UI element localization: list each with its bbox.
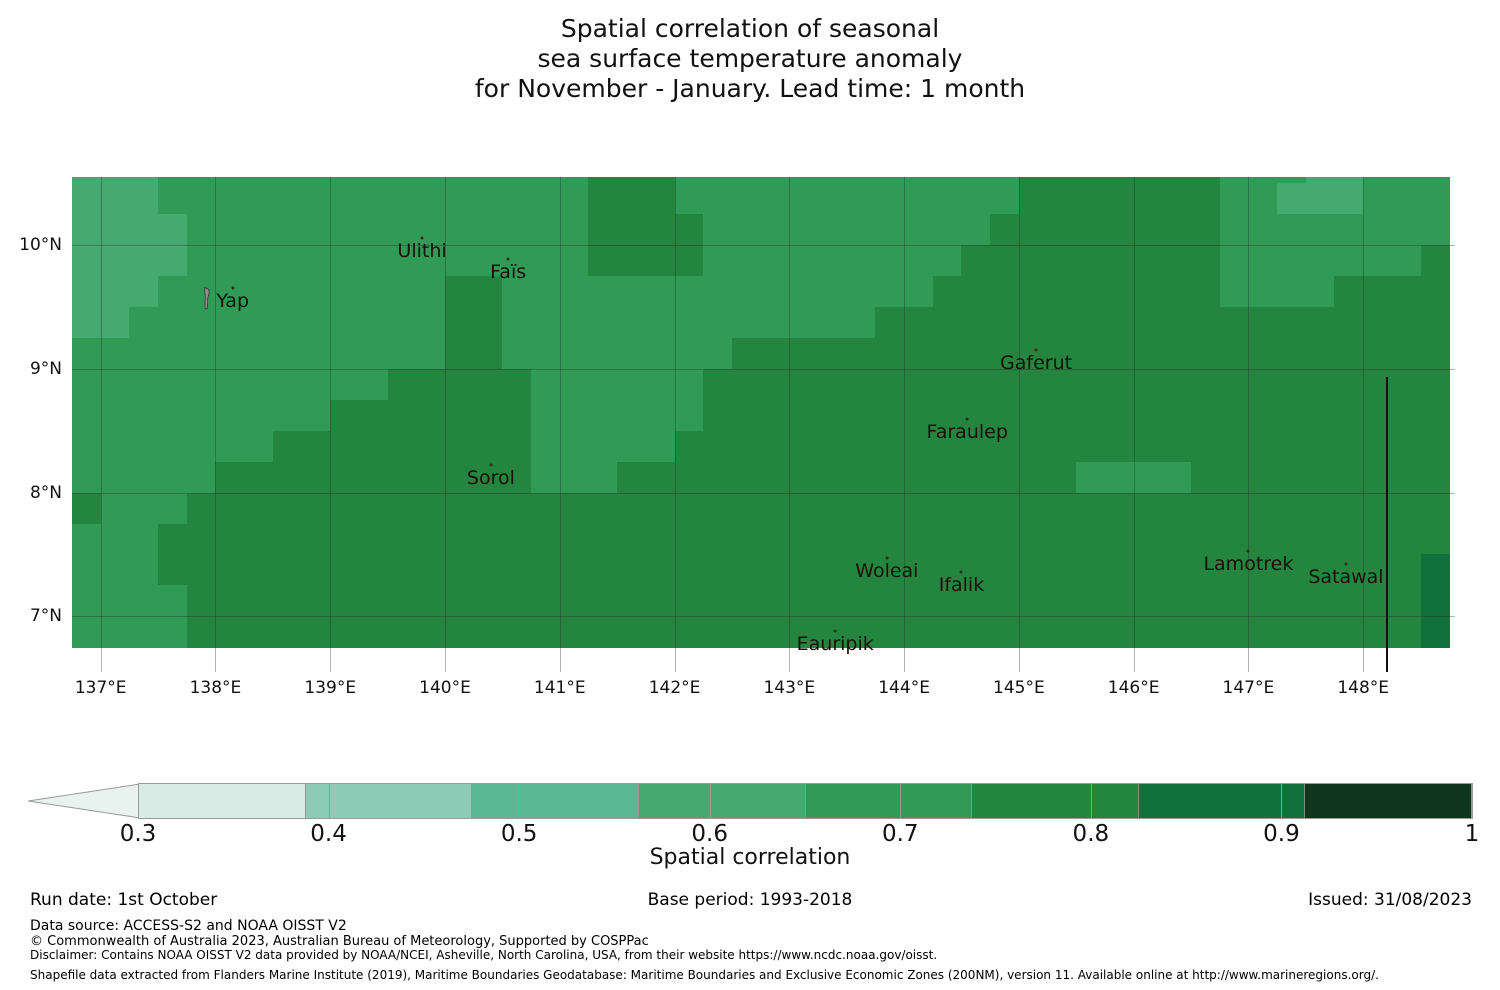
- heatmap-cell: [875, 276, 905, 308]
- heatmap-cell: [273, 616, 303, 648]
- heatmap-cell: [158, 183, 188, 215]
- heatmap-cell: [129, 307, 159, 339]
- heatmap-cell: [560, 431, 590, 463]
- shapefile-credit: Shapefile data extracted from Flanders M…: [30, 968, 1379, 982]
- colorbar-segment: [805, 784, 972, 818]
- heatmap-cell: [588, 276, 618, 308]
- heatmap-cell: [1048, 214, 1078, 246]
- heatmap-cell: [1076, 214, 1106, 246]
- heatmap-cell: [1019, 431, 1049, 463]
- heatmap-cell: [588, 431, 618, 463]
- heatmap-cell: [1019, 554, 1049, 586]
- heatmap-cell: [818, 214, 848, 246]
- heatmap-cell: [617, 276, 647, 308]
- heatmap-cell: [273, 400, 303, 432]
- heatmap-cell: [359, 307, 389, 339]
- latitude-tick-label: 7°N: [30, 606, 62, 626]
- heatmap-cell: [675, 276, 705, 308]
- heatmap-cell: [388, 462, 418, 494]
- heatmap-cell: [818, 554, 848, 586]
- heatmap-cell: [302, 276, 332, 308]
- base-period: Base period: 1993-2018: [0, 890, 1500, 910]
- heatmap-cell: [416, 338, 446, 370]
- heatmap-cell: [904, 493, 934, 525]
- heatmap-cell: [1363, 462, 1393, 494]
- heatmap-cell: [1048, 585, 1078, 617]
- heatmap-cell: [1162, 369, 1192, 401]
- heatmap-cell: [761, 431, 791, 463]
- heatmap-cell: [990, 554, 1020, 586]
- heatmap-cell: [761, 245, 791, 277]
- heatmap-cell: [187, 245, 217, 277]
- heatmap-cell: [560, 245, 590, 277]
- heatmap-cell: [1162, 338, 1192, 370]
- heatmap-cell: [215, 462, 245, 494]
- heatmap-cell: [1191, 369, 1221, 401]
- heatmap-cell: [588, 183, 618, 215]
- heatmap-cell: [675, 431, 705, 463]
- heatmap-cell: [1220, 245, 1250, 277]
- heatmap-cell: [560, 369, 590, 401]
- heatmap-cell: [961, 616, 991, 648]
- heatmap-cell: [1306, 307, 1336, 339]
- heatmap-cell: [388, 369, 418, 401]
- heatmap-cell: [330, 554, 360, 586]
- heatmap-cell: [1363, 524, 1393, 556]
- heatmap-cell: [72, 214, 102, 246]
- colorbar-segment: [139, 784, 305, 818]
- heatmap-cell: [474, 214, 504, 246]
- heatmap-cell: [560, 307, 590, 339]
- heatmap-cell: [1334, 214, 1364, 246]
- colorbar-tick-label: 0.7: [882, 821, 919, 847]
- heatmap-cell: [502, 585, 532, 617]
- heatmap-cell: [158, 369, 188, 401]
- heatmap-cell: [1248, 276, 1278, 308]
- heatmap-cell: [388, 524, 418, 556]
- heatmap-cell: [818, 462, 848, 494]
- heatmap-cell: [875, 462, 905, 494]
- heatmap-cell: [330, 493, 360, 525]
- heatmap-cell: [244, 245, 274, 277]
- heatmap-cell: [588, 585, 618, 617]
- heatmap-cell: [761, 524, 791, 556]
- latitude-tick-label: 8°N: [30, 483, 62, 503]
- heatmap-cell: [646, 462, 676, 494]
- heatmap-cell: [1277, 524, 1307, 556]
- heatmap-cell: [732, 493, 762, 525]
- heatmap-cell: [359, 214, 389, 246]
- heatmap-cell: [129, 585, 159, 617]
- heatmap-cell: [1105, 554, 1135, 586]
- heatmap-cell: [761, 400, 791, 432]
- heatmap-cell: [1191, 245, 1221, 277]
- colorbar-segment: [971, 784, 1138, 818]
- heatmap-cell: [1134, 524, 1164, 556]
- heatmap-cell: [502, 214, 532, 246]
- disclaimer: Disclaimer: Contains NOAA OISST V2 data …: [30, 948, 937, 962]
- heatmap-cell: [330, 585, 360, 617]
- heatmap-cell: [445, 616, 475, 648]
- heatmap-cell: [531, 493, 561, 525]
- heatmap-cell: [588, 524, 618, 556]
- eez-boundary: [1386, 377, 1388, 672]
- heatmap-cell: [818, 400, 848, 432]
- heatmap-cell: [302, 585, 332, 617]
- heatmap-cell: [933, 524, 963, 556]
- heatmap-cell: [1334, 307, 1364, 339]
- heatmap-cell: [990, 493, 1020, 525]
- heatmap-cell: [732, 616, 762, 648]
- gridline-vertical: [1019, 177, 1020, 672]
- heatmap-cell: [158, 400, 188, 432]
- heatmap-cell: [1076, 524, 1106, 556]
- colorbar-tick-label: 0.8: [1073, 821, 1110, 847]
- heatmap-cell: [703, 400, 733, 432]
- heatmap-cell: [330, 431, 360, 463]
- heatmap-cell: [1421, 431, 1451, 463]
- gridline-horizontal: [72, 245, 1455, 246]
- heatmap-cell: [502, 183, 532, 215]
- heatmap-cell: [933, 616, 963, 648]
- heatmap-cell: [1220, 214, 1250, 246]
- heatmap-cell: [1220, 585, 1250, 617]
- heatmap-cell: [847, 462, 877, 494]
- heatmap-cell: [273, 585, 303, 617]
- heatmap-cell: [1076, 400, 1106, 432]
- heatmap-cell: [761, 554, 791, 586]
- heatmap-cell: [445, 493, 475, 525]
- figure-root: Spatial correlation of seasonal sea surf…: [0, 0, 1500, 990]
- colorbar-tick-mark: [1281, 783, 1282, 819]
- gridline-vertical: [330, 177, 331, 672]
- heatmap-cell: [675, 524, 705, 556]
- heatmap-cell: [388, 493, 418, 525]
- heatmap-cell: [847, 276, 877, 308]
- heatmap-cell: [732, 585, 762, 617]
- heatmap-cell: [875, 585, 905, 617]
- heatmap-cell: [1134, 338, 1164, 370]
- heatmap-cell: [531, 431, 561, 463]
- heatmap-cell: [1105, 585, 1135, 617]
- heatmap-cell: [1277, 369, 1307, 401]
- heatmap-cell: [703, 493, 733, 525]
- heatmap-cell: [101, 524, 131, 556]
- heatmap-cell: [818, 307, 848, 339]
- heatmap-cell: [215, 431, 245, 463]
- heatmap-cell: [588, 245, 618, 277]
- island-label-lamotrek: Lamotrek: [1203, 553, 1293, 575]
- heatmap-cell: [646, 493, 676, 525]
- heatmap-cell: [187, 585, 217, 617]
- heatmap-cell: [129, 431, 159, 463]
- heatmap-cell: [1019, 524, 1049, 556]
- heatmap-cell: [1105, 338, 1135, 370]
- heatmap-cell: [1019, 245, 1049, 277]
- heatmap-cell: [72, 524, 102, 556]
- heatmap-cell: [732, 183, 762, 215]
- heatmap-cell: [904, 524, 934, 556]
- gridline-vertical: [904, 177, 905, 672]
- heatmap-cell: [502, 524, 532, 556]
- heatmap-cell: [1105, 369, 1135, 401]
- heatmap-cell: [1334, 245, 1364, 277]
- heatmap-cell: [703, 276, 733, 308]
- heatmap-cell: [388, 585, 418, 617]
- heatmap-cell: [302, 616, 332, 648]
- heatmap-cell: [244, 369, 274, 401]
- heatmap-cell: [1392, 616, 1422, 648]
- heatmap-cell: [732, 369, 762, 401]
- heatmap-cell: [789, 462, 819, 494]
- colorbar-label: Spatial correlation: [0, 845, 1500, 870]
- heatmap-cell: [904, 183, 934, 215]
- heatmap-cell: [1019, 493, 1049, 525]
- heatmap-cell: [847, 245, 877, 277]
- heatmap-cell: [359, 524, 389, 556]
- colorbar-tick-label: 1: [1465, 821, 1480, 847]
- heatmap-cell: [1392, 307, 1422, 339]
- heatmap-cell: [1421, 369, 1451, 401]
- heatmap-cell: [1048, 493, 1078, 525]
- heatmap-cell: [818, 338, 848, 370]
- heatmap-cell: [330, 616, 360, 648]
- heatmap-cell: [531, 338, 561, 370]
- heatmap-cell: [416, 400, 446, 432]
- colorbar-tick-label: 0.4: [310, 821, 347, 847]
- heatmap-cell: [531, 307, 561, 339]
- heatmap-cell: [990, 585, 1020, 617]
- heatmap-cell: [617, 245, 647, 277]
- heatmap-cell: [847, 585, 877, 617]
- heatmap-cell: [617, 493, 647, 525]
- heatmap-cell: [1220, 431, 1250, 463]
- heatmap-cell: [474, 585, 504, 617]
- heatmap-cell: [646, 338, 676, 370]
- heatmap-cell: [72, 462, 102, 494]
- heatmap-cell: [761, 276, 791, 308]
- heatmap-cell: [445, 554, 475, 586]
- heatmap-cell: [675, 462, 705, 494]
- heatmap-cell: [129, 462, 159, 494]
- chart-title: Spatial correlation of seasonal sea surf…: [0, 14, 1500, 104]
- heatmap-cell: [789, 245, 819, 277]
- heatmap-cell: [1162, 554, 1192, 586]
- heatmap-cell: [675, 493, 705, 525]
- heatmap-cell: [1363, 585, 1393, 617]
- gridline-vertical: [1248, 177, 1249, 672]
- heatmap-cell: [1334, 338, 1364, 370]
- heatmap-cell: [1248, 585, 1278, 617]
- heatmap-cell: [732, 245, 762, 277]
- heatmap-cell: [646, 616, 676, 648]
- heatmap-cell: [761, 585, 791, 617]
- heatmap-cell: [1220, 276, 1250, 308]
- colorbar[interactable]: 0.30.40.50.60.70.80.91: [28, 783, 1472, 819]
- heatmap-cell: [101, 400, 131, 432]
- heatmap-cell: [531, 524, 561, 556]
- heatmap-cell: [875, 369, 905, 401]
- heatmap-cell: [904, 214, 934, 246]
- heatmap-cell: [990, 369, 1020, 401]
- heatmap-cell: [904, 245, 934, 277]
- heatmap-cell: [129, 276, 159, 308]
- heatmap-cell: [129, 524, 159, 556]
- heatmap-cell: [1162, 245, 1192, 277]
- heatmap-cell: [1048, 554, 1078, 586]
- heatmap-cell: [560, 554, 590, 586]
- heatmap-cell: [1421, 400, 1451, 432]
- heatmap-cell: [560, 585, 590, 617]
- heatmap-cell: [675, 369, 705, 401]
- heatmap-cell: [1392, 214, 1422, 246]
- heatmap-cell: [273, 338, 303, 370]
- heatmap-cell: [904, 462, 934, 494]
- heatmap-cell: [531, 585, 561, 617]
- heatmap-cell: [961, 276, 991, 308]
- heatmap-cell: [72, 400, 102, 432]
- heatmap-cell: [847, 369, 877, 401]
- longitude-tick-label: 139°E: [304, 678, 356, 698]
- heatmap-cell: [244, 183, 274, 215]
- heatmap-cell: [1162, 183, 1192, 215]
- heatmap-cell: [1306, 183, 1336, 215]
- heatmap-cell: [1019, 307, 1049, 339]
- heatmap-cell: [617, 616, 647, 648]
- heatmap-cell: [1392, 276, 1422, 308]
- heatmap-cell: [72, 431, 102, 463]
- island-label-ifalik: Ifalik: [939, 574, 985, 596]
- heatmap-cell: [330, 183, 360, 215]
- heatmap-cell: [560, 493, 590, 525]
- heatmap-cell: [1162, 214, 1192, 246]
- heatmap-cell: [187, 524, 217, 556]
- heatmap-cell: [1076, 554, 1106, 586]
- heatmap-cell: [1134, 616, 1164, 648]
- heatmap-cell: [215, 493, 245, 525]
- heatmap-cell: [215, 585, 245, 617]
- heatmap-cell: [904, 585, 934, 617]
- heatmap-cell: [1277, 462, 1307, 494]
- heatmap-cell: [158, 616, 188, 648]
- heatmap-cell: [588, 338, 618, 370]
- heatmap-cell: [1277, 307, 1307, 339]
- heatmap-cell: [617, 307, 647, 339]
- heatmap-cell: [1248, 338, 1278, 370]
- heatmap-cell: [359, 400, 389, 432]
- heatmap-cell: [818, 585, 848, 617]
- heatmap-cell: [646, 245, 676, 277]
- heatmap-cell: [273, 245, 303, 277]
- heatmap-cell: [187, 307, 217, 339]
- heatmap-cell: [502, 431, 532, 463]
- heatmap-cell: [1392, 524, 1422, 556]
- heatmap-cell: [244, 338, 274, 370]
- map-plot-area[interactable]: YapUlithiFaïsSorolGaferutFaraulepWoleaiI…: [72, 177, 1455, 672]
- heatmap-cell: [875, 431, 905, 463]
- heatmap-cell: [646, 183, 676, 215]
- heatmap-cell: [1019, 616, 1049, 648]
- heatmap-cell: [875, 338, 905, 370]
- gridline-vertical: [1134, 177, 1135, 672]
- heatmap-cell: [502, 400, 532, 432]
- heatmap-cell: [1076, 616, 1106, 648]
- heatmap-cell: [502, 616, 532, 648]
- heatmap-cell: [1220, 493, 1250, 525]
- heatmap-cell: [359, 616, 389, 648]
- heatmap-cell: [1363, 431, 1393, 463]
- heatmap-cell: [1277, 431, 1307, 463]
- heatmap-cell: [1248, 493, 1278, 525]
- heatmap-cell: [588, 369, 618, 401]
- heatmap-cell: [244, 585, 274, 617]
- heatmap-cell: [1134, 462, 1164, 494]
- heatmap-cell: [187, 431, 217, 463]
- heatmap-cell: [388, 554, 418, 586]
- heatmap-cell: [330, 307, 360, 339]
- heatmap-cell: [1421, 214, 1451, 246]
- heatmap-cell: [187, 369, 217, 401]
- heatmap-cell: [1306, 400, 1336, 432]
- heatmap-cell: [789, 307, 819, 339]
- heatmap-cell: [847, 524, 877, 556]
- heatmap-cell: [1248, 245, 1278, 277]
- heatmap-cell: [158, 307, 188, 339]
- heatmap-cell: [101, 183, 131, 215]
- colorbar-tick-mark: [1091, 783, 1092, 819]
- heatmap-cell: [875, 183, 905, 215]
- heatmap-cell: [961, 307, 991, 339]
- heatmap-cell: [904, 338, 934, 370]
- heatmap-cell: [1134, 276, 1164, 308]
- heatmap-cell: [818, 524, 848, 556]
- heatmap-cell: [847, 214, 877, 246]
- heatmap-cell: [990, 183, 1020, 215]
- heatmap-cell: [1076, 183, 1106, 215]
- heatmap-cell: [302, 524, 332, 556]
- heatmap-cell: [302, 493, 332, 525]
- longitude-tick-label: 146°E: [1108, 678, 1160, 698]
- heatmap-cell: [129, 369, 159, 401]
- heatmap-cell: [531, 462, 561, 494]
- longitude-tick-label: 144°E: [878, 678, 930, 698]
- heatmap-cell: [1334, 183, 1364, 215]
- heatmap-cell: [703, 524, 733, 556]
- heatmap-cell: [990, 524, 1020, 556]
- heatmap-cell: [1191, 338, 1221, 370]
- heatmap-cell: [732, 276, 762, 308]
- heatmap-cell: [445, 183, 475, 215]
- heatmap-cell: [933, 462, 963, 494]
- heatmap-cell: [1076, 338, 1106, 370]
- heatmap-cell: [1019, 276, 1049, 308]
- heatmap-cell: [875, 524, 905, 556]
- heatmap-cell: [1191, 307, 1221, 339]
- heatmap-cell: [1076, 276, 1106, 308]
- heatmap-cell: [617, 369, 647, 401]
- heatmap-cell: [1162, 462, 1192, 494]
- heatmap-cell: [990, 245, 1020, 277]
- heatmap-cell: [1220, 462, 1250, 494]
- heatmap-cell: [330, 462, 360, 494]
- heatmap-cell: [847, 183, 877, 215]
- heatmap-cell: [1392, 245, 1422, 277]
- heatmap-cell: [560, 276, 590, 308]
- heatmap-cell: [990, 462, 1020, 494]
- heatmap-cell: [474, 493, 504, 525]
- heatmap-cell: [761, 493, 791, 525]
- heatmap-cell: [933, 307, 963, 339]
